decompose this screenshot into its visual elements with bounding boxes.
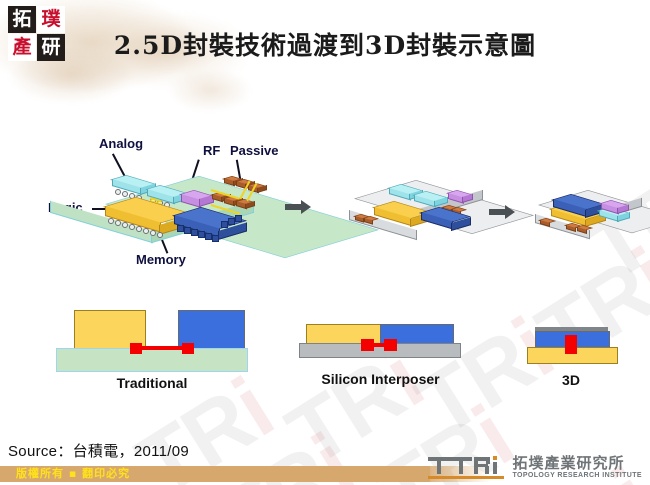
tri-footer-logo: 拓墣產業研究所 TOPOLOGY RESEARCH INSTITUTE	[428, 452, 642, 480]
footer-band: 版權所有 ▪ 翻印必究	[0, 466, 430, 482]
copyright-text: 版權所有 ▪ 翻印必究	[16, 466, 130, 482]
background-wash	[150, 55, 270, 125]
arrow-right-icon-1	[285, 200, 312, 214]
three-d-package-board-3d	[530, 186, 636, 242]
slide-canvas: TRi TRi TRi TRi TRi TRi TRi TRi 拓 璞 產 研 …	[0, 0, 650, 485]
interconnect-trace	[139, 346, 186, 350]
cross-section-interposer: Silicon Interposer	[293, 318, 468, 388]
cross-section-3d: 3D	[516, 322, 626, 392]
tri-logo-mark	[428, 454, 506, 480]
caption-interposer: Silicon Interposer	[293, 371, 468, 387]
tri-logo-cn: 拓墣產業研究所	[512, 455, 624, 471]
callout-label-analog: Analog	[99, 136, 143, 151]
arrow-right-icon-2	[489, 205, 516, 219]
tri-logo-text: 拓墣產業研究所 TOPOLOGY RESEARCH INSTITUTE	[512, 455, 642, 480]
caption-traditional: Traditional	[47, 375, 257, 391]
caption-3d: 3D	[516, 372, 626, 388]
silicon-interposer-board-3d	[345, 178, 470, 242]
organic-substrate-xsec	[56, 348, 248, 372]
source-note: Source：台積電，2011/09	[8, 440, 189, 461]
cross-section-traditional: Traditional	[47, 305, 257, 385]
page-title: 2.5D封裝技術過渡到3D封裝示意圖	[0, 26, 650, 62]
tri-logo-en: TOPOLOGY RESEARCH INSTITUTE	[512, 471, 642, 480]
callout-label-passive: Passive	[230, 143, 278, 158]
interconnect-trace	[371, 343, 387, 347]
traditional-board-3d	[44, 168, 239, 254]
callout-label-memory: Memory	[136, 252, 186, 267]
callout-label-rf: RF	[203, 143, 220, 158]
tsv-interconnect	[565, 335, 577, 354]
